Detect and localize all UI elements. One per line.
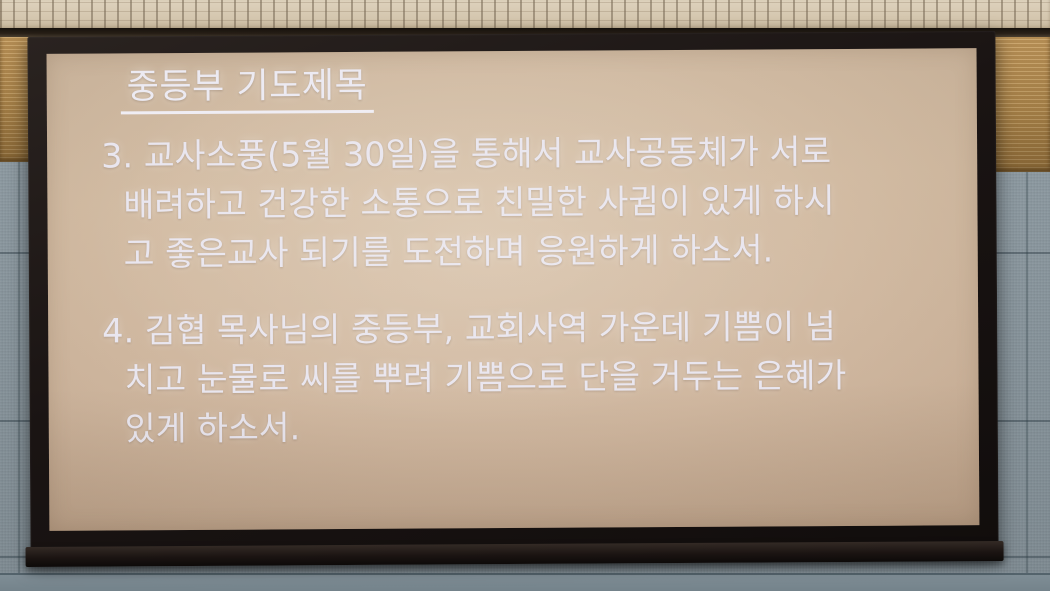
presentation-slide: 중등부 기도제목 3. 교사소풍(5월 30일)을 통해서 교사공동체가 서로 … [47, 48, 980, 531]
wood-wall-panel-right [988, 32, 1050, 172]
prayer-item-4-line-1: 4. 김협 목사님의 중등부, 교회사역 가운데 기쁨이 넘 [102, 302, 952, 356]
prayer-item-4-line-3: 있게 하소서. [103, 400, 953, 454]
slide-title: 중등부 기도제목 [121, 66, 374, 115]
projector-screen-frame: 중등부 기도제목 3. 교사소풍(5월 30일)을 통해서 교사공동체가 서로 … [27, 31, 998, 561]
projector-screen-surface: 중등부 기도제목 3. 교사소풍(5월 30일)을 통해서 교사공동체가 서로 … [47, 48, 980, 531]
room-scene: 중등부 기도제목 3. 교사소풍(5월 30일)을 통해서 교사공동체가 서로 … [0, 0, 1050, 591]
prayer-item-3-line-2: 배려하고 건강한 소통으로 친밀한 사귐이 있게 하시 [101, 176, 951, 230]
prayer-item-4: 4. 김협 목사님의 중등부, 교회사역 가운데 기쁨이 넘 치고 눈물로 씨를… [102, 302, 953, 454]
prayer-item-3: 3. 교사소풍(5월 30일)을 통해서 교사공동체가 서로 배려하고 건강한 … [101, 127, 952, 279]
floor-baseboard [0, 573, 1050, 591]
prayer-item-4-line-2: 치고 눈물로 씨를 뿌려 기쁨으로 단을 거두는 은혜가 [102, 351, 952, 405]
prayer-item-3-line-3: 고 좋은교사 되기를 도전하며 응원하게 하소서. [102, 225, 952, 279]
prayer-item-3-line-1: 3. 교사소풍(5월 30일)을 통해서 교사공동체가 서로 [101, 127, 951, 181]
ceiling-acoustic-panel [0, 0, 1050, 30]
slide-body: 3. 교사소풍(5월 30일)을 통해서 교사공동체가 서로 배려하고 건강한 … [95, 127, 953, 454]
